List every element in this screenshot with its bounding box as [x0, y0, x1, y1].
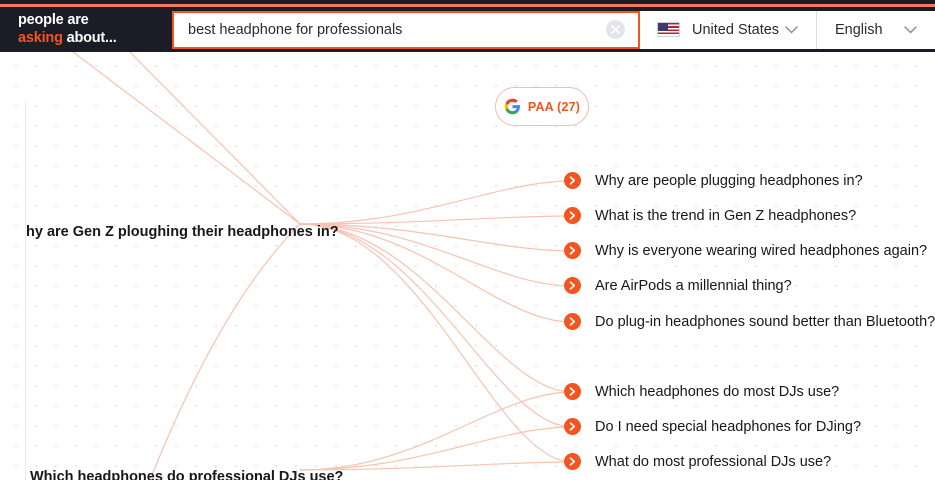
chevron-down-icon — [785, 26, 798, 34]
us-flag-icon — [657, 22, 680, 37]
search-box — [172, 11, 640, 49]
chevron-right-icon — [564, 277, 581, 294]
locale-selectors: United States English — [640, 11, 935, 49]
paa-badge-label: PAA (27) — [528, 100, 580, 114]
chevron-right-icon — [564, 313, 581, 330]
google-g-icon — [504, 98, 521, 115]
question-node-label: Do plug-in headphones sound better than … — [595, 314, 935, 330]
country-selector-label: United States — [692, 22, 779, 38]
clear-search-button[interactable] — [606, 20, 625, 39]
question-node-child[interactable]: Which headphones do most DJs use? — [564, 383, 839, 400]
chevron-right-icon — [564, 172, 581, 189]
language-selector[interactable]: English — [816, 11, 935, 49]
question-node-label: Which headphones do most DJs use? — [595, 384, 839, 400]
mindmap-canvas[interactable]: PAA (27) hy are Gen Z ploughing their he… — [0, 52, 935, 480]
question-node-child[interactable]: Do I need special headphones for DJing? — [564, 418, 861, 435]
connector-edge — [300, 224, 572, 427]
question-node-label: What is the trend in Gen Z headphones? — [595, 208, 856, 224]
connector-edge — [300, 181, 572, 224]
search-bar — [172, 11, 640, 49]
connector-edge — [60, 52, 300, 224]
app-logo[interactable]: people are asking about... — [0, 12, 170, 46]
question-node-label: What do most professional DJs use? — [595, 454, 831, 470]
question-node-label: Why are people plugging headphones in? — [595, 173, 863, 189]
top-accent-bar — [0, 0, 935, 7]
app-header: people are asking about... United States — [0, 7, 935, 52]
question-node-child[interactable]: Are AirPods a millennial thing? — [564, 277, 792, 294]
language-selector-label: English — [835, 22, 883, 38]
question-node-child[interactable]: Do plug-in headphones sound better than … — [564, 313, 935, 330]
edge-layer — [0, 52, 935, 480]
chevron-right-icon — [564, 453, 581, 470]
paa-source-badge[interactable]: PAA (27) — [495, 87, 589, 126]
question-node-parent[interactable]: hy are Gen Z ploughing their headphones … — [26, 224, 339, 240]
chevron-right-icon — [564, 242, 581, 259]
connector-edge — [300, 224, 572, 462]
chevron-down-icon — [904, 26, 917, 34]
question-node-child[interactable]: What is the trend in Gen Z headphones? — [564, 207, 856, 224]
question-node-label: Which headphones do professional DJs use… — [30, 469, 343, 480]
chevron-right-icon — [564, 207, 581, 224]
question-node-parent[interactable]: Which headphones do professional DJs use… — [30, 469, 343, 480]
logo-tail-word: about... — [63, 30, 117, 46]
country-selector[interactable]: United States — [640, 11, 816, 49]
canvas-guide-line — [25, 100, 26, 480]
chevron-right-icon — [564, 418, 581, 435]
question-node-label: hy are Gen Z ploughing their headphones … — [26, 224, 339, 240]
connector-edge — [300, 224, 572, 322]
question-node-label: Do I need special headphones for DJing? — [595, 419, 861, 435]
logo-line-2: asking about... — [18, 30, 170, 47]
connector-edge — [150, 224, 300, 480]
search-input[interactable] — [174, 13, 606, 47]
logo-line-1: people are — [18, 12, 170, 29]
question-node-child[interactable]: Why are people plugging headphones in? — [564, 172, 863, 189]
connector-edge — [120, 52, 300, 224]
question-node-label: Why is everyone wearing wired headphones… — [595, 243, 927, 259]
close-icon — [611, 25, 620, 34]
question-node-child[interactable]: Why is everyone wearing wired headphones… — [564, 242, 927, 259]
chevron-right-icon — [564, 383, 581, 400]
logo-accent-word: asking — [18, 30, 63, 46]
question-node-child[interactable]: What do most professional DJs use? — [564, 453, 831, 470]
question-node-label: Are AirPods a millennial thing? — [595, 278, 792, 294]
connector-edge — [300, 427, 572, 470]
